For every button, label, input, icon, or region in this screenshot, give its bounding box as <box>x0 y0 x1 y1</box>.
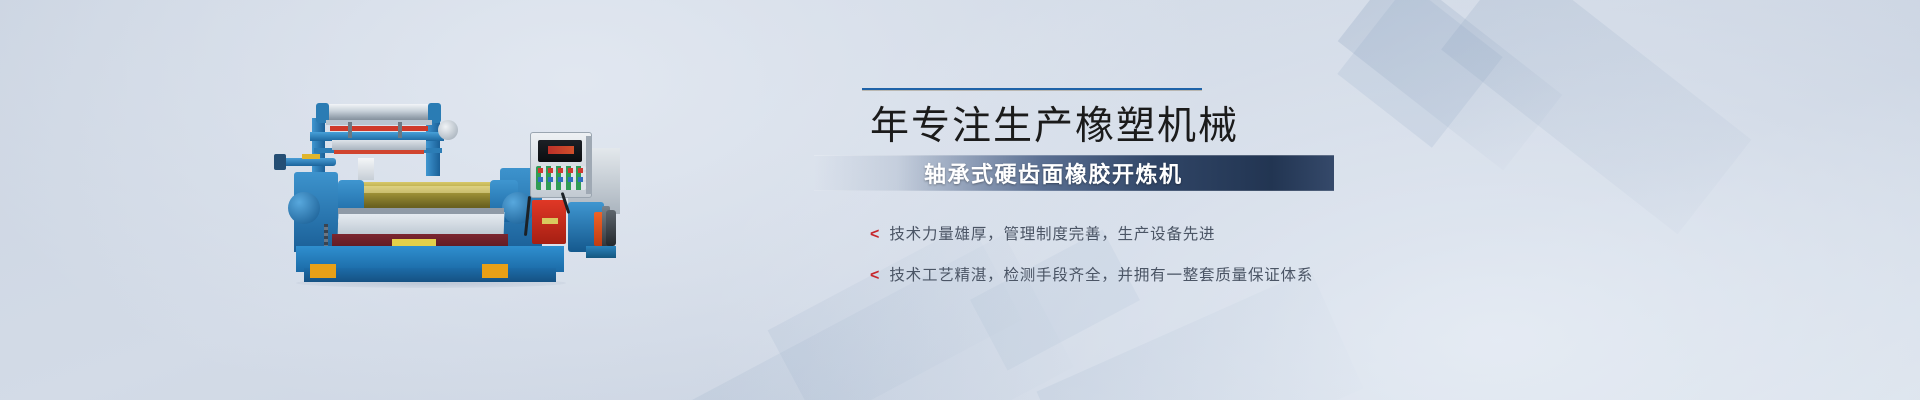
subtitle-text: 轴承式硬齿面橡胶开炼机 <box>924 157 1183 189</box>
machine-left-arm <box>278 158 336 166</box>
promo-banner: 年专注生产橡塑机械 轴承式硬齿面橡胶开炼机 < 技术力量雄厚，管理制度完善，生产… <box>0 0 1920 400</box>
feature-text: 技术力量雄厚，管理制度完善，生产设备先进 <box>889 222 1215 244</box>
list-item: < 技术工艺精湛，检测手段齐全，并拥有一整套质量保证体系 <box>870 263 1616 285</box>
product-photo-rubber-mixing-mill <box>286 96 616 286</box>
subtitle-band: 轴承式硬齿面橡胶开炼机 <box>814 155 1334 191</box>
machine-top-plate <box>332 140 426 150</box>
machine-left-arm-knob <box>274 154 286 170</box>
list-item: < 技术力量雄厚，管理制度完善，生产设备先进 <box>870 222 1616 244</box>
machine-red-box-label <box>542 218 558 224</box>
machine-motor <box>606 210 616 246</box>
machine-handwheel <box>438 120 458 140</box>
machine-base-lower <box>304 268 556 282</box>
machine-main-roll-highlight <box>356 186 494 193</box>
machine-hopper <box>358 158 374 180</box>
machine-handle-right <box>398 122 402 138</box>
machine-bearing-left <box>288 192 320 224</box>
machine-panel-button-row-2 <box>538 177 584 182</box>
chevron-left-icon: < <box>870 227 879 243</box>
machine-panel-button-row-1 <box>538 168 584 173</box>
machine-top-red-bar <box>330 126 428 131</box>
machine-panel-side <box>586 136 592 194</box>
machine-top-plate-stripe <box>334 150 424 154</box>
machine-handle-left <box>348 122 352 138</box>
machine-top-rail <box>326 120 432 125</box>
machine-panel-digits <box>548 146 574 154</box>
machine-nameplate <box>392 239 436 246</box>
banner-text-block: 年专注生产橡塑机械 轴承式硬齿面橡胶开炼机 < 技术力量雄厚，管理制度完善，生产… <box>856 88 1616 304</box>
feature-list: < 技术力量雄厚，管理制度完善，生产设备先进 < 技术工艺精湛，检测手段齐全，并… <box>856 222 1616 285</box>
machine-tray-lip <box>338 208 504 214</box>
title-accent-rule <box>862 88 1202 91</box>
page-title: 年专注生产橡塑机械 <box>856 104 1616 150</box>
machine-left-arm-marker <box>302 154 320 159</box>
machine-foot-left <box>310 264 336 278</box>
machine-foot-right <box>482 264 508 278</box>
chevron-left-icon: < <box>870 268 879 284</box>
machine-motor-base <box>586 246 616 258</box>
feature-text: 技术工艺精湛，检测手段齐全，并拥有一整套质量保证体系 <box>889 263 1313 285</box>
